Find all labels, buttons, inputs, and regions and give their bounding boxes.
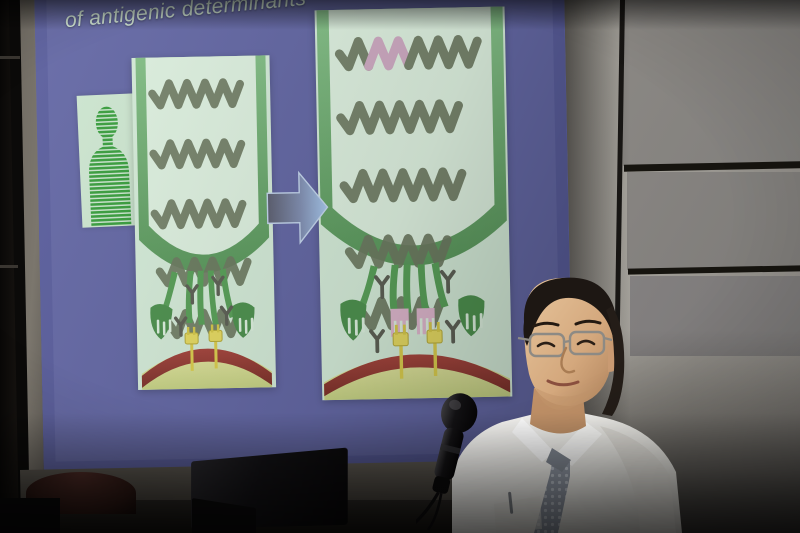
wall-panel-middle [627, 172, 800, 270]
human-silhouette-icon [77, 93, 141, 227]
human-silhouette-panel [77, 93, 141, 227]
wall-panel-upper [623, 0, 800, 166]
presenter-monitor [178, 455, 348, 533]
figure-panel-before [131, 55, 276, 390]
left-trim-upper [0, 56, 20, 59]
left-trim-lower [0, 265, 18, 268]
photograph-scene: Influenza HA of antigenic determinants [0, 0, 800, 533]
monitor-base [0, 498, 60, 533]
transition-arrow-icon [265, 166, 331, 249]
handheld-microphone [416, 390, 486, 533]
